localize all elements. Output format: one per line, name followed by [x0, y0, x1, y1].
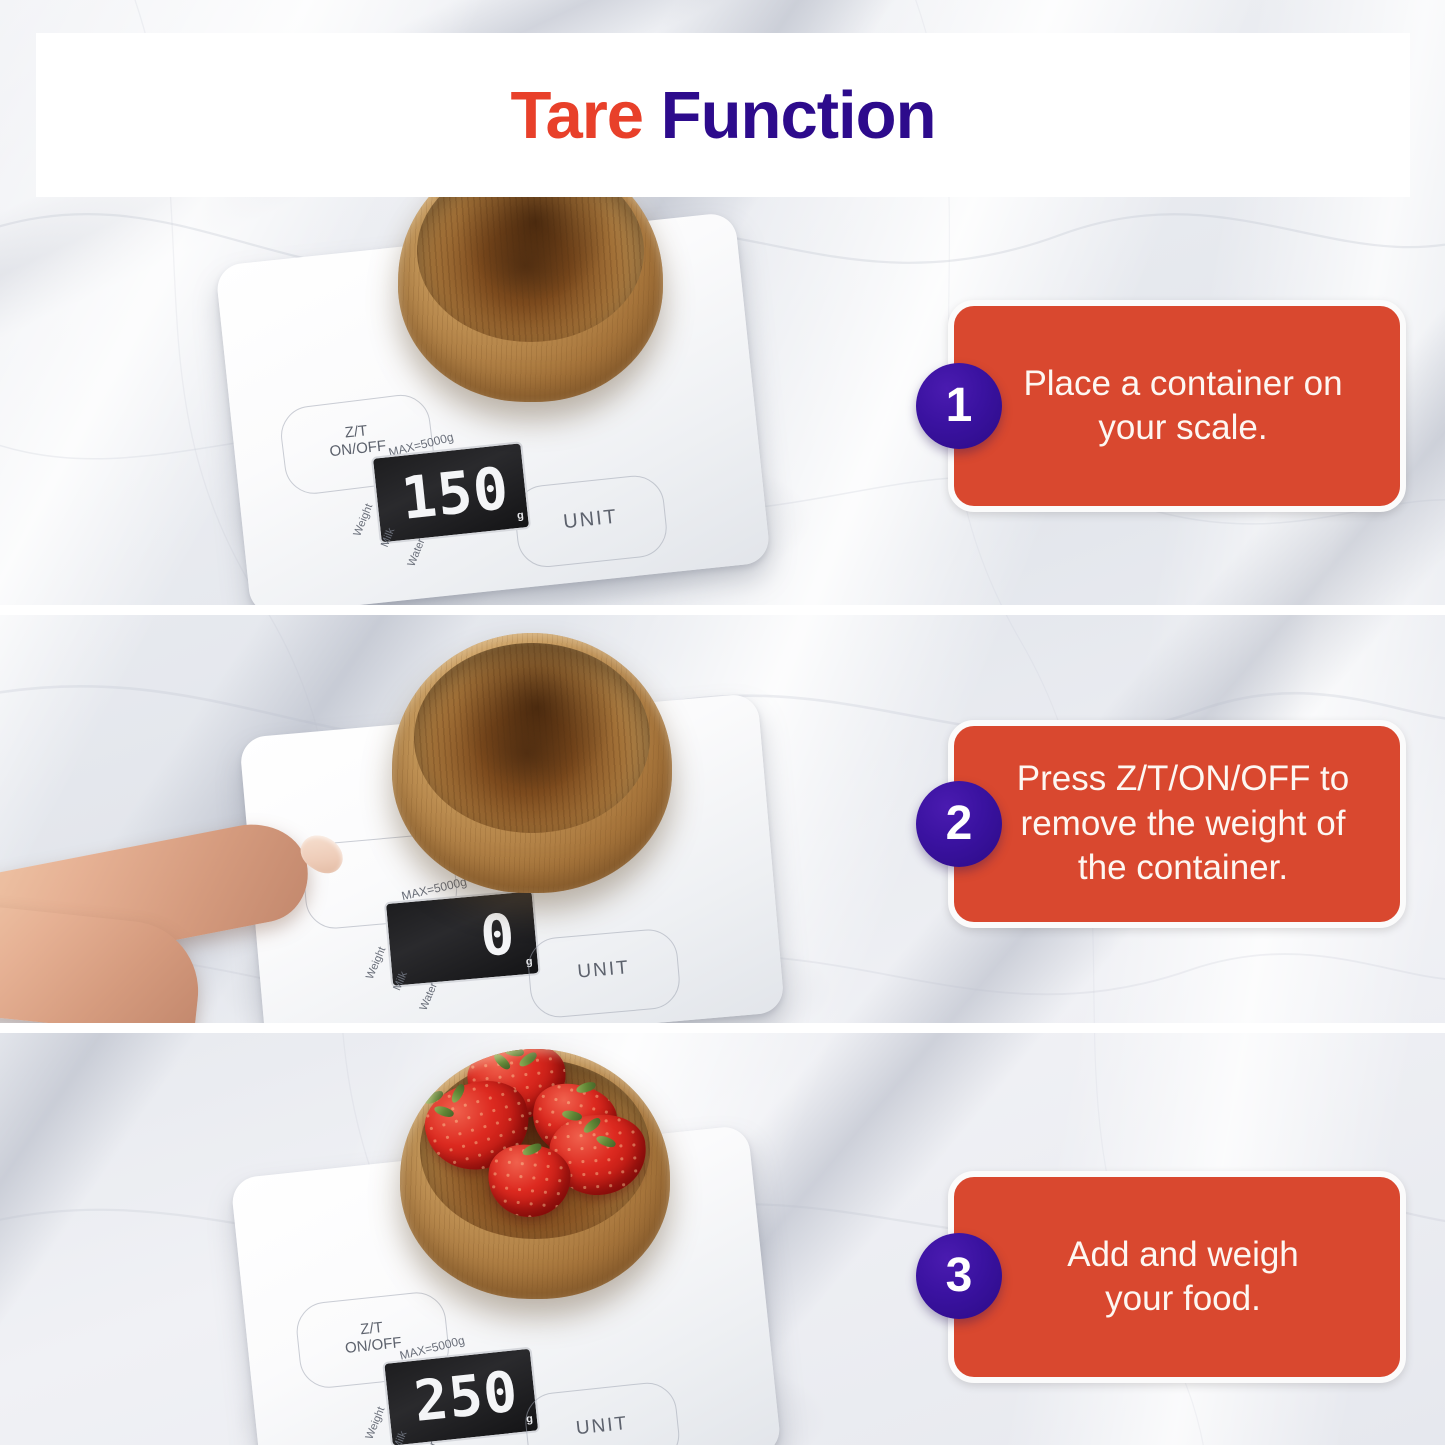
lcd-reading-3: 250	[412, 1364, 521, 1431]
step-card-3[interactable]: Add and weigh your food.	[948, 1171, 1406, 1383]
mode-label-water-1: Water	[406, 537, 428, 568]
step-card-1[interactable]: Place a container on your scale.	[948, 300, 1406, 512]
lcd-reading-1: 150	[399, 459, 512, 528]
mode-label-water-2: Water	[418, 981, 440, 1012]
step-badge-3: 3	[916, 1233, 1002, 1319]
infographic-page: Z/T ON/OFF UNIT MAX=5000g d=1g 150 g Wei…	[0, 0, 1445, 1445]
bowl-rim-highlight-3	[400, 1049, 670, 1299]
wooden-bowl-2	[392, 633, 672, 893]
lcd-unit-1: g	[516, 509, 524, 522]
mode-label-weight-1: Weight	[351, 502, 375, 538]
step-text-3: Add and weigh your food.	[1021, 1233, 1333, 1322]
title-word-tare: Tare	[510, 78, 643, 153]
panel-divider-2	[0, 1023, 1445, 1033]
step-text-2: Press Z/T/ON/OFF to remove the weight of…	[971, 757, 1384, 890]
lcd-reading-2: 0	[478, 907, 517, 966]
step-badge-2: 2	[916, 781, 1002, 867]
title-banner: Tare Function	[36, 33, 1410, 197]
panel-divider-1	[0, 605, 1445, 615]
wooden-bowl-3	[400, 1049, 670, 1299]
mode-label-weight-3: Weight	[364, 1405, 388, 1441]
step-panel-2: MAX=5000g d=1g 0 g Weight Milk Water UNI…	[0, 615, 1445, 1023]
step-badge-1: 1	[916, 363, 1002, 449]
step-panel-3: Z/T ON/OFF MAX=5000g d=1g 250 g Weight M…	[0, 1033, 1445, 1445]
step-card-2[interactable]: Press Z/T/ON/OFF to remove the weight of…	[948, 720, 1406, 928]
page-title: Tare Function	[510, 82, 935, 149]
title-word-function: Function	[661, 78, 936, 153]
bowl-rim-highlight-2	[392, 633, 672, 893]
step-text-1: Place a container on your scale.	[977, 362, 1376, 451]
title-space	[643, 78, 661, 153]
lcd-display-3: 250 g	[382, 1347, 540, 1445]
mode-label-weight-2: Weight	[364, 945, 388, 981]
